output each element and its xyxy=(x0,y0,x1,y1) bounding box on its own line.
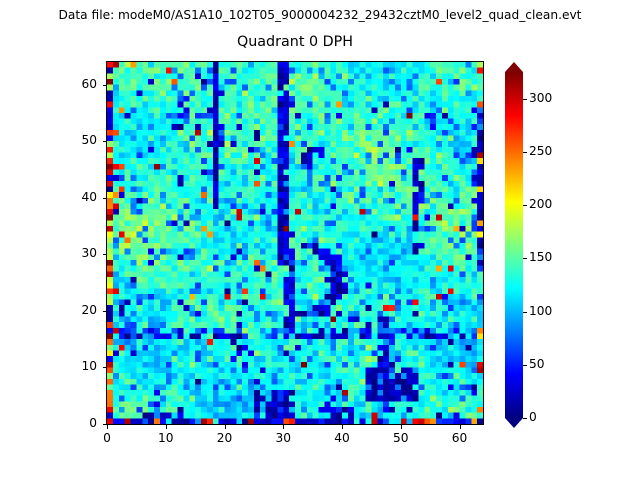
x-tick-label: 40 xyxy=(322,431,362,445)
colorbar-tick-mark xyxy=(523,312,527,313)
colorbar-tick-label: 100 xyxy=(529,304,552,318)
x-tick-mark xyxy=(342,425,343,429)
y-tick-mark xyxy=(103,141,107,142)
colorbar-tick-label: 50 xyxy=(529,357,545,371)
y-tick-label: 40 xyxy=(57,190,97,204)
heatmap-plot-area xyxy=(107,62,483,424)
colorbar-tick-label: 250 xyxy=(529,144,552,158)
page-title: Quadrant 0 DPH xyxy=(107,34,483,50)
colorbar-tick-label: 0 xyxy=(529,410,537,424)
colorbar-tick-mark xyxy=(523,99,527,100)
y-tick-label: 60 xyxy=(57,77,97,91)
colorbar-tick-mark xyxy=(523,152,527,153)
x-tick-label: 60 xyxy=(440,431,480,445)
heatmap-image xyxy=(107,62,483,424)
y-tick-mark xyxy=(103,311,107,312)
colorbar xyxy=(505,62,523,428)
colorbar-tick-mark xyxy=(523,258,527,259)
x-tick-mark xyxy=(283,425,284,429)
x-tick-label: 10 xyxy=(146,431,186,445)
colorbar-tick-mark xyxy=(523,365,527,366)
axis-spine-top xyxy=(106,61,484,62)
figure-suptitle: Data file: modeM0/AS1A10_102T05_90000042… xyxy=(0,8,640,22)
y-tick-mark xyxy=(103,85,107,86)
colorbar-tick-label: 300 xyxy=(529,91,552,105)
colorbar-image xyxy=(505,72,523,418)
colorbar-over-arrow-icon xyxy=(505,62,523,72)
colorbar-under-arrow-icon xyxy=(505,418,523,428)
x-tick-mark xyxy=(460,425,461,429)
y-tick-label: 30 xyxy=(57,246,97,260)
colorbar-tick-label: 200 xyxy=(529,197,552,211)
x-tick-label: 20 xyxy=(205,431,245,445)
x-tick-mark xyxy=(107,425,108,429)
x-tick-label: 30 xyxy=(263,431,303,445)
matplotlib-figure: Data file: modeM0/AS1A10_102T05_90000042… xyxy=(0,0,640,480)
x-tick-mark xyxy=(401,425,402,429)
y-tick-mark xyxy=(103,198,107,199)
x-tick-label: 50 xyxy=(381,431,421,445)
colorbar-tick-label: 150 xyxy=(529,250,552,264)
x-tick-label: 0 xyxy=(87,431,127,445)
y-tick-label: 50 xyxy=(57,133,97,147)
colorbar-gradient xyxy=(505,72,523,418)
axis-spine-bottom xyxy=(106,424,484,425)
y-tick-mark xyxy=(103,367,107,368)
colorbar-tick-mark xyxy=(523,418,527,419)
axis-spine-right xyxy=(483,61,484,425)
axis-spine-left xyxy=(106,61,107,425)
x-tick-mark xyxy=(166,425,167,429)
y-tick-label: 20 xyxy=(57,303,97,317)
y-tick-mark xyxy=(103,424,107,425)
y-tick-mark xyxy=(103,254,107,255)
colorbar-tick-mark xyxy=(523,205,527,206)
x-tick-mark xyxy=(225,425,226,429)
y-tick-label: 0 xyxy=(57,416,97,430)
y-tick-label: 10 xyxy=(57,359,97,373)
